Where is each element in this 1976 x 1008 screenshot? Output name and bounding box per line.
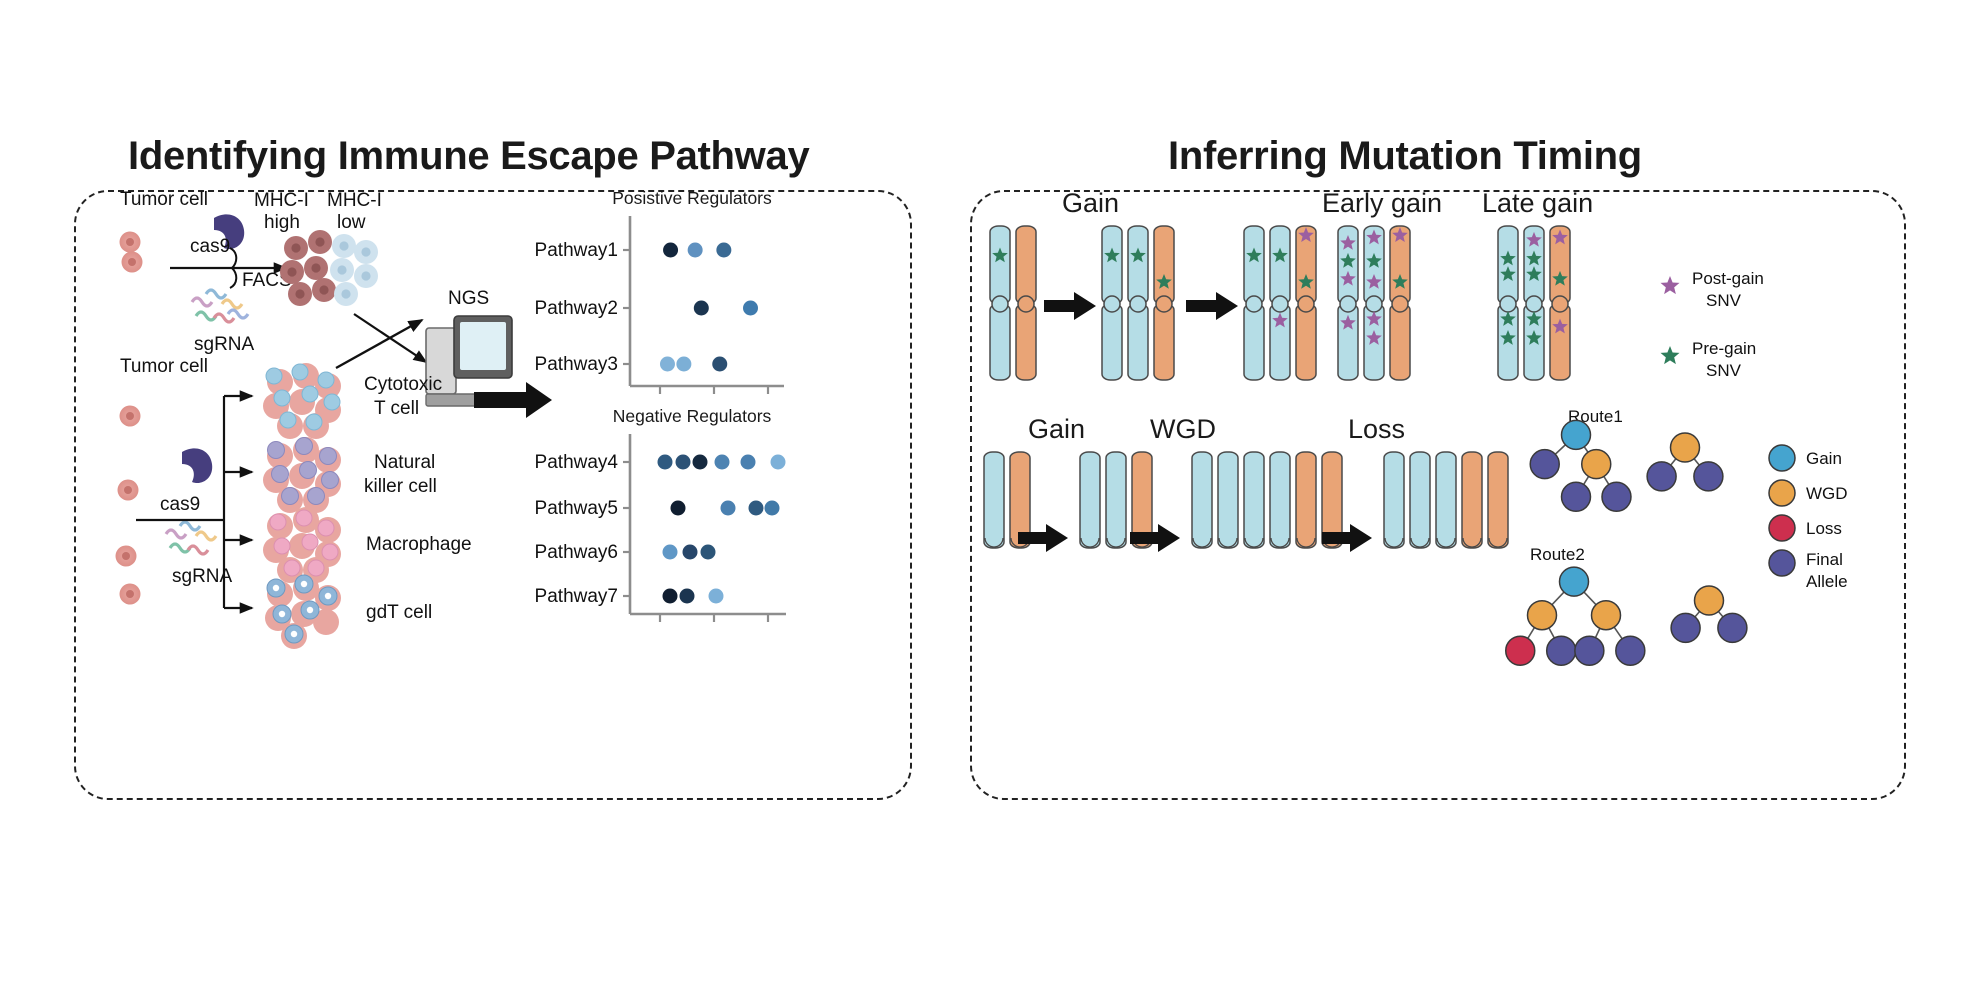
- centromere-icon: [1340, 296, 1356, 312]
- ngs-label: NGS: [448, 288, 489, 309]
- chromosome-group: [1338, 226, 1410, 380]
- legend-label-wgd: WGD: [1806, 484, 1848, 503]
- centromere-icon: [1392, 296, 1408, 312]
- chromosome-body: [1192, 452, 1212, 548]
- sgrna-icon-top: [192, 290, 248, 322]
- early-gain-label: Early gain: [1322, 188, 1442, 218]
- scatter-point: [701, 545, 716, 560]
- pathway-label: Pathway5: [535, 498, 618, 519]
- chromosome-body: [1106, 452, 1126, 548]
- gdt-cell-cluster: [265, 575, 341, 649]
- tree-node-final: [1671, 613, 1700, 642]
- chromosome-group: [1192, 452, 1342, 548]
- tree-node-final: [1575, 636, 1604, 665]
- route-tree: [1506, 567, 1645, 665]
- pathway-label: Pathway1: [535, 240, 618, 261]
- scatter-point: [693, 455, 708, 470]
- chromosome-arm-p: [1498, 226, 1518, 304]
- scatter-point: [683, 545, 698, 560]
- chromosome-arm-q: [1390, 304, 1410, 380]
- scatter-point: [712, 357, 727, 372]
- gdt-cell-label: gdT cell: [366, 602, 432, 623]
- chromosome-body: [1462, 452, 1482, 548]
- tree-node-wgd: [1582, 450, 1611, 479]
- chromosome-arm-q: [1244, 304, 1264, 380]
- chromosome-arm-p: [1016, 226, 1036, 304]
- chromosome-arm-q: [1016, 304, 1036, 380]
- chromosome-group: [1244, 226, 1316, 380]
- legend-label-final-line2: Allele: [1806, 572, 1848, 591]
- left-panel-graphics: Tumor cell cas9 FACS sgRNA MHC-I high MH…: [74, 190, 908, 796]
- chromosome-arm-q: [1550, 304, 1570, 380]
- negative-regulators-chart: Negative Regulators Pathway4Pathway5Path…: [535, 406, 786, 622]
- snv-legend: Post-gainSNVPre-gainSNV: [1660, 269, 1763, 380]
- centromere-icon: [1500, 296, 1516, 312]
- main-flow-arrow: [474, 382, 552, 418]
- centromere-icon: [992, 296, 1008, 312]
- scatter-point: [765, 501, 780, 516]
- tree-node-wgd: [1671, 433, 1700, 462]
- legend-label-gain: Gain: [1806, 449, 1842, 468]
- tree-node-final: [1694, 462, 1723, 491]
- legend-swatch-wgd: [1769, 480, 1795, 506]
- chromosome-body: [1080, 452, 1100, 548]
- scatter-point: [715, 455, 730, 470]
- route-tree: [1530, 420, 1631, 511]
- mhc-low-label-line2: low: [337, 212, 366, 233]
- chromosome-arm-p: [990, 226, 1010, 304]
- scatter-point: [663, 243, 678, 258]
- chromosome-body: [1218, 452, 1238, 548]
- sgrna-icon-bottom: [166, 522, 216, 554]
- positive-regulators-chart: Posistive Regulators Pathway1Pathway2Pat…: [535, 188, 784, 394]
- mhc-low-label-line1: MHC-I: [327, 190, 382, 211]
- centromere-icon: [1246, 296, 1262, 312]
- centromere-icon: [1272, 296, 1288, 312]
- tree-node-gain: [1562, 420, 1591, 449]
- pre-gain-snv-star-icon: [1660, 346, 1679, 364]
- tumor-cell-label-top: Tumor cell: [120, 189, 208, 210]
- tree-legend: GainWGDLossFinalAllele: [1769, 445, 1848, 591]
- centromere-icon: [1156, 296, 1172, 312]
- tree-node-final: [1616, 636, 1645, 665]
- mhc-high-label-line1: MHC-I: [254, 190, 309, 211]
- scatter-point: [694, 301, 709, 316]
- chromosome-arm-p: [1270, 226, 1290, 304]
- pathway-label: Pathway7: [535, 586, 618, 607]
- scatter-point: [676, 357, 691, 372]
- pre-gain-snv-legend-label-line1: Pre-gain: [1692, 339, 1756, 358]
- pathway-label: Pathway2: [535, 298, 618, 319]
- chromosome-arm-q: [1296, 304, 1316, 380]
- tree-node-loss: [1506, 636, 1535, 665]
- pre-gain-snv-legend-label-line2: SNV: [1706, 361, 1742, 380]
- loss-label: Loss: [1348, 414, 1405, 444]
- legend-swatch-loss: [1769, 515, 1795, 541]
- pathway-label: Pathway3: [535, 354, 618, 375]
- chromosome-group: [1498, 226, 1570, 380]
- pathway-label: Pathway6: [535, 542, 618, 563]
- chromosome-arm-q: [1102, 304, 1122, 380]
- chromosome-body: [1410, 452, 1430, 548]
- centromere-icon: [1526, 296, 1542, 312]
- post-gain-snv-legend-label-line1: Post-gain: [1692, 269, 1764, 288]
- chromosome-arm-p: [1102, 226, 1122, 304]
- scatter-point: [771, 455, 786, 470]
- scatter-point: [671, 501, 686, 516]
- chromosome-group: [1102, 226, 1174, 380]
- scatter-point: [660, 357, 675, 372]
- chromosome-arm-q: [1128, 304, 1148, 380]
- scatter-point: [680, 589, 695, 604]
- scatter-point: [749, 501, 764, 516]
- late-gain-label: Late gain: [1482, 188, 1593, 218]
- post-gain-snv-star-icon: [1660, 276, 1679, 294]
- tree-node-wgd: [1695, 586, 1724, 615]
- legend-swatch-gain: [1769, 445, 1795, 471]
- scatter-point: [676, 455, 691, 470]
- tree-node-final: [1562, 482, 1591, 511]
- centromere-icon: [1130, 296, 1146, 312]
- right-panel-title: Inferring Mutation Timing: [1168, 134, 1642, 179]
- legend-swatch-final: [1769, 550, 1795, 576]
- post-gain-snv-legend-label-line2: SNV: [1706, 291, 1742, 310]
- chromosome-group: [1384, 452, 1508, 548]
- natural-killer-cell-label-line2: killer cell: [364, 476, 437, 497]
- scatter-point: [709, 589, 724, 604]
- tumor-cells-bottom: [116, 406, 141, 605]
- chromosome-arm-q: [1154, 304, 1174, 380]
- chromosome-body: [984, 452, 1004, 548]
- scatter-point: [688, 243, 703, 258]
- tree-node-final: [1530, 450, 1559, 479]
- cas9-icon-bottom: [182, 448, 212, 483]
- tree-node-wgd: [1528, 601, 1557, 630]
- cas9-label-bottom: cas9: [160, 494, 200, 515]
- scatter-point: [658, 455, 673, 470]
- tree-node-gain: [1560, 567, 1589, 596]
- centromere-icon: [1018, 296, 1034, 312]
- natural-killer-cell-cluster: [263, 437, 341, 513]
- tumor-cells-top: [120, 232, 143, 273]
- tree-node-final: [1647, 462, 1676, 491]
- tree-node-final: [1602, 482, 1631, 511]
- left-panel-title: Identifying Immune Escape Pathway: [128, 134, 809, 179]
- route2-label: Route2: [1530, 545, 1585, 564]
- chromosome-body: [1488, 452, 1508, 548]
- legend-label-loss: Loss: [1806, 519, 1842, 538]
- wgd-label: WGD: [1150, 414, 1216, 444]
- chromosome-body: [1296, 452, 1316, 548]
- scatter-point: [721, 501, 736, 516]
- chromosome-group: [990, 226, 1036, 380]
- macrophage-label: Macrophage: [366, 534, 472, 555]
- chromosome-body: [1436, 452, 1456, 548]
- macrophage-cluster: [263, 507, 341, 583]
- tree-node-wgd: [1592, 601, 1621, 630]
- scatter-point: [663, 545, 678, 560]
- route-tree: [1647, 433, 1723, 491]
- gain-bottom-label: Gain: [1028, 414, 1085, 444]
- centromere-icon: [1552, 296, 1568, 312]
- natural-killer-cell-label-line1: Natural: [374, 452, 435, 473]
- cytotoxic-t-cell-cluster: [263, 363, 341, 439]
- scatter-point: [743, 301, 758, 316]
- centromere-icon: [1104, 296, 1120, 312]
- positive-regulators-title: Posistive Regulators: [612, 188, 772, 208]
- scatter-point: [716, 243, 731, 258]
- centromere-icon: [1366, 296, 1382, 312]
- mhc-high-label-line2: high: [264, 212, 300, 233]
- scatter-point: [663, 589, 678, 604]
- negative-regulators-title: Negative Regulators: [613, 406, 772, 426]
- chromosome-body: [1244, 452, 1264, 548]
- centromere-icon: [1298, 296, 1314, 312]
- cas9-label-top: cas9: [190, 236, 230, 257]
- cytotoxic-t-cell-label-line2: T cell: [374, 398, 419, 419]
- chromosome-arm-p: [1244, 226, 1264, 304]
- chromosome-body: [1384, 452, 1404, 548]
- scatter-point: [741, 455, 756, 470]
- chromosome-arm-p: [1154, 226, 1174, 304]
- tree-node-final: [1718, 613, 1747, 642]
- tumor-cell-label-bottom: Tumor cell: [120, 356, 208, 377]
- route-tree: [1671, 586, 1747, 642]
- chromosome-arm-q: [990, 304, 1010, 380]
- chromosome-arm-p: [1128, 226, 1148, 304]
- gain-top-label: Gain: [1062, 188, 1119, 218]
- right-panel-graphics: Gain Early gain Late gain Post-gainSNVPr…: [970, 190, 1902, 796]
- mhc-cell-cluster: [280, 230, 378, 306]
- tree-node-final: [1547, 636, 1576, 665]
- sgrna-label-top: sgRNA: [194, 334, 255, 355]
- legend-label-final-line1: Final: [1806, 550, 1843, 569]
- pathway-label: Pathway4: [535, 452, 619, 473]
- chromosome-body: [1270, 452, 1290, 548]
